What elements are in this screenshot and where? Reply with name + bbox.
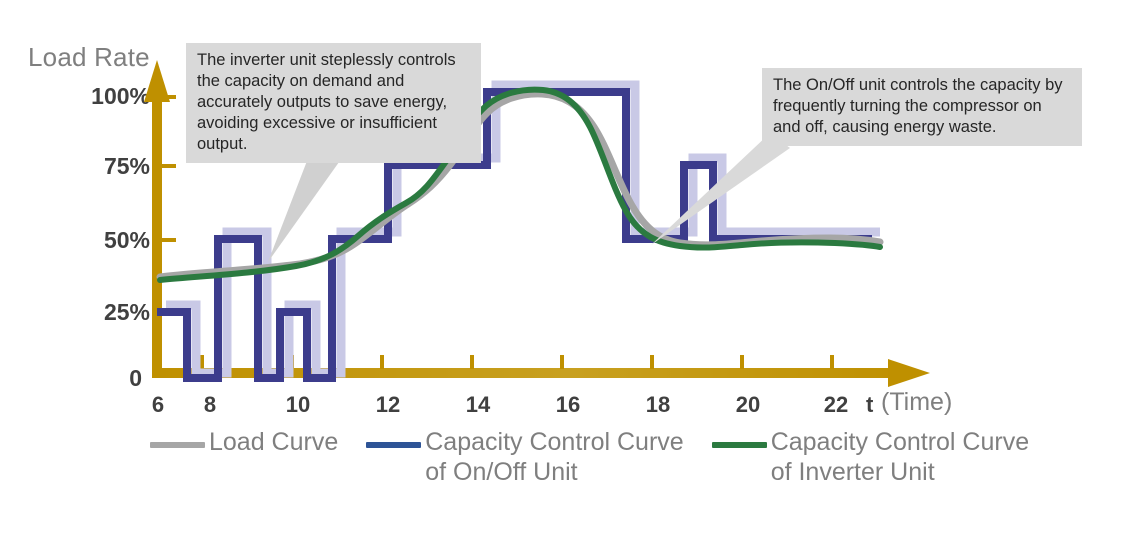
inverter-note-callout: The inverter unit steplessly controls th…	[186, 43, 481, 163]
legend-swatch-icon	[366, 442, 421, 448]
legend-item-inverter-curve[interactable]: Capacity Control Curve of Inverter Unit	[712, 428, 1029, 487]
chart-legend: Load Curve Capacity Control Curve of On/…	[150, 428, 1029, 487]
legend-swatch-icon	[150, 442, 205, 448]
onoff-note-callout: The On/Off unit controls the capacity by…	[762, 68, 1082, 146]
legend-swatch-icon	[712, 442, 767, 448]
legend-label: Capacity Control Curve of Inverter Unit	[771, 428, 1029, 487]
legend-label: Capacity Control Curve of On/Off Unit	[425, 428, 683, 487]
chart-root: Load Rate 100% 75% 50% 25% 0 6 8 10 12 1…	[0, 0, 1144, 536]
legend-item-load-curve[interactable]: Load Curve	[150, 428, 338, 458]
legend-item-onoff-curve[interactable]: Capacity Control Curve of On/Off Unit	[366, 428, 683, 487]
legend-label: Load Curve	[209, 428, 338, 458]
